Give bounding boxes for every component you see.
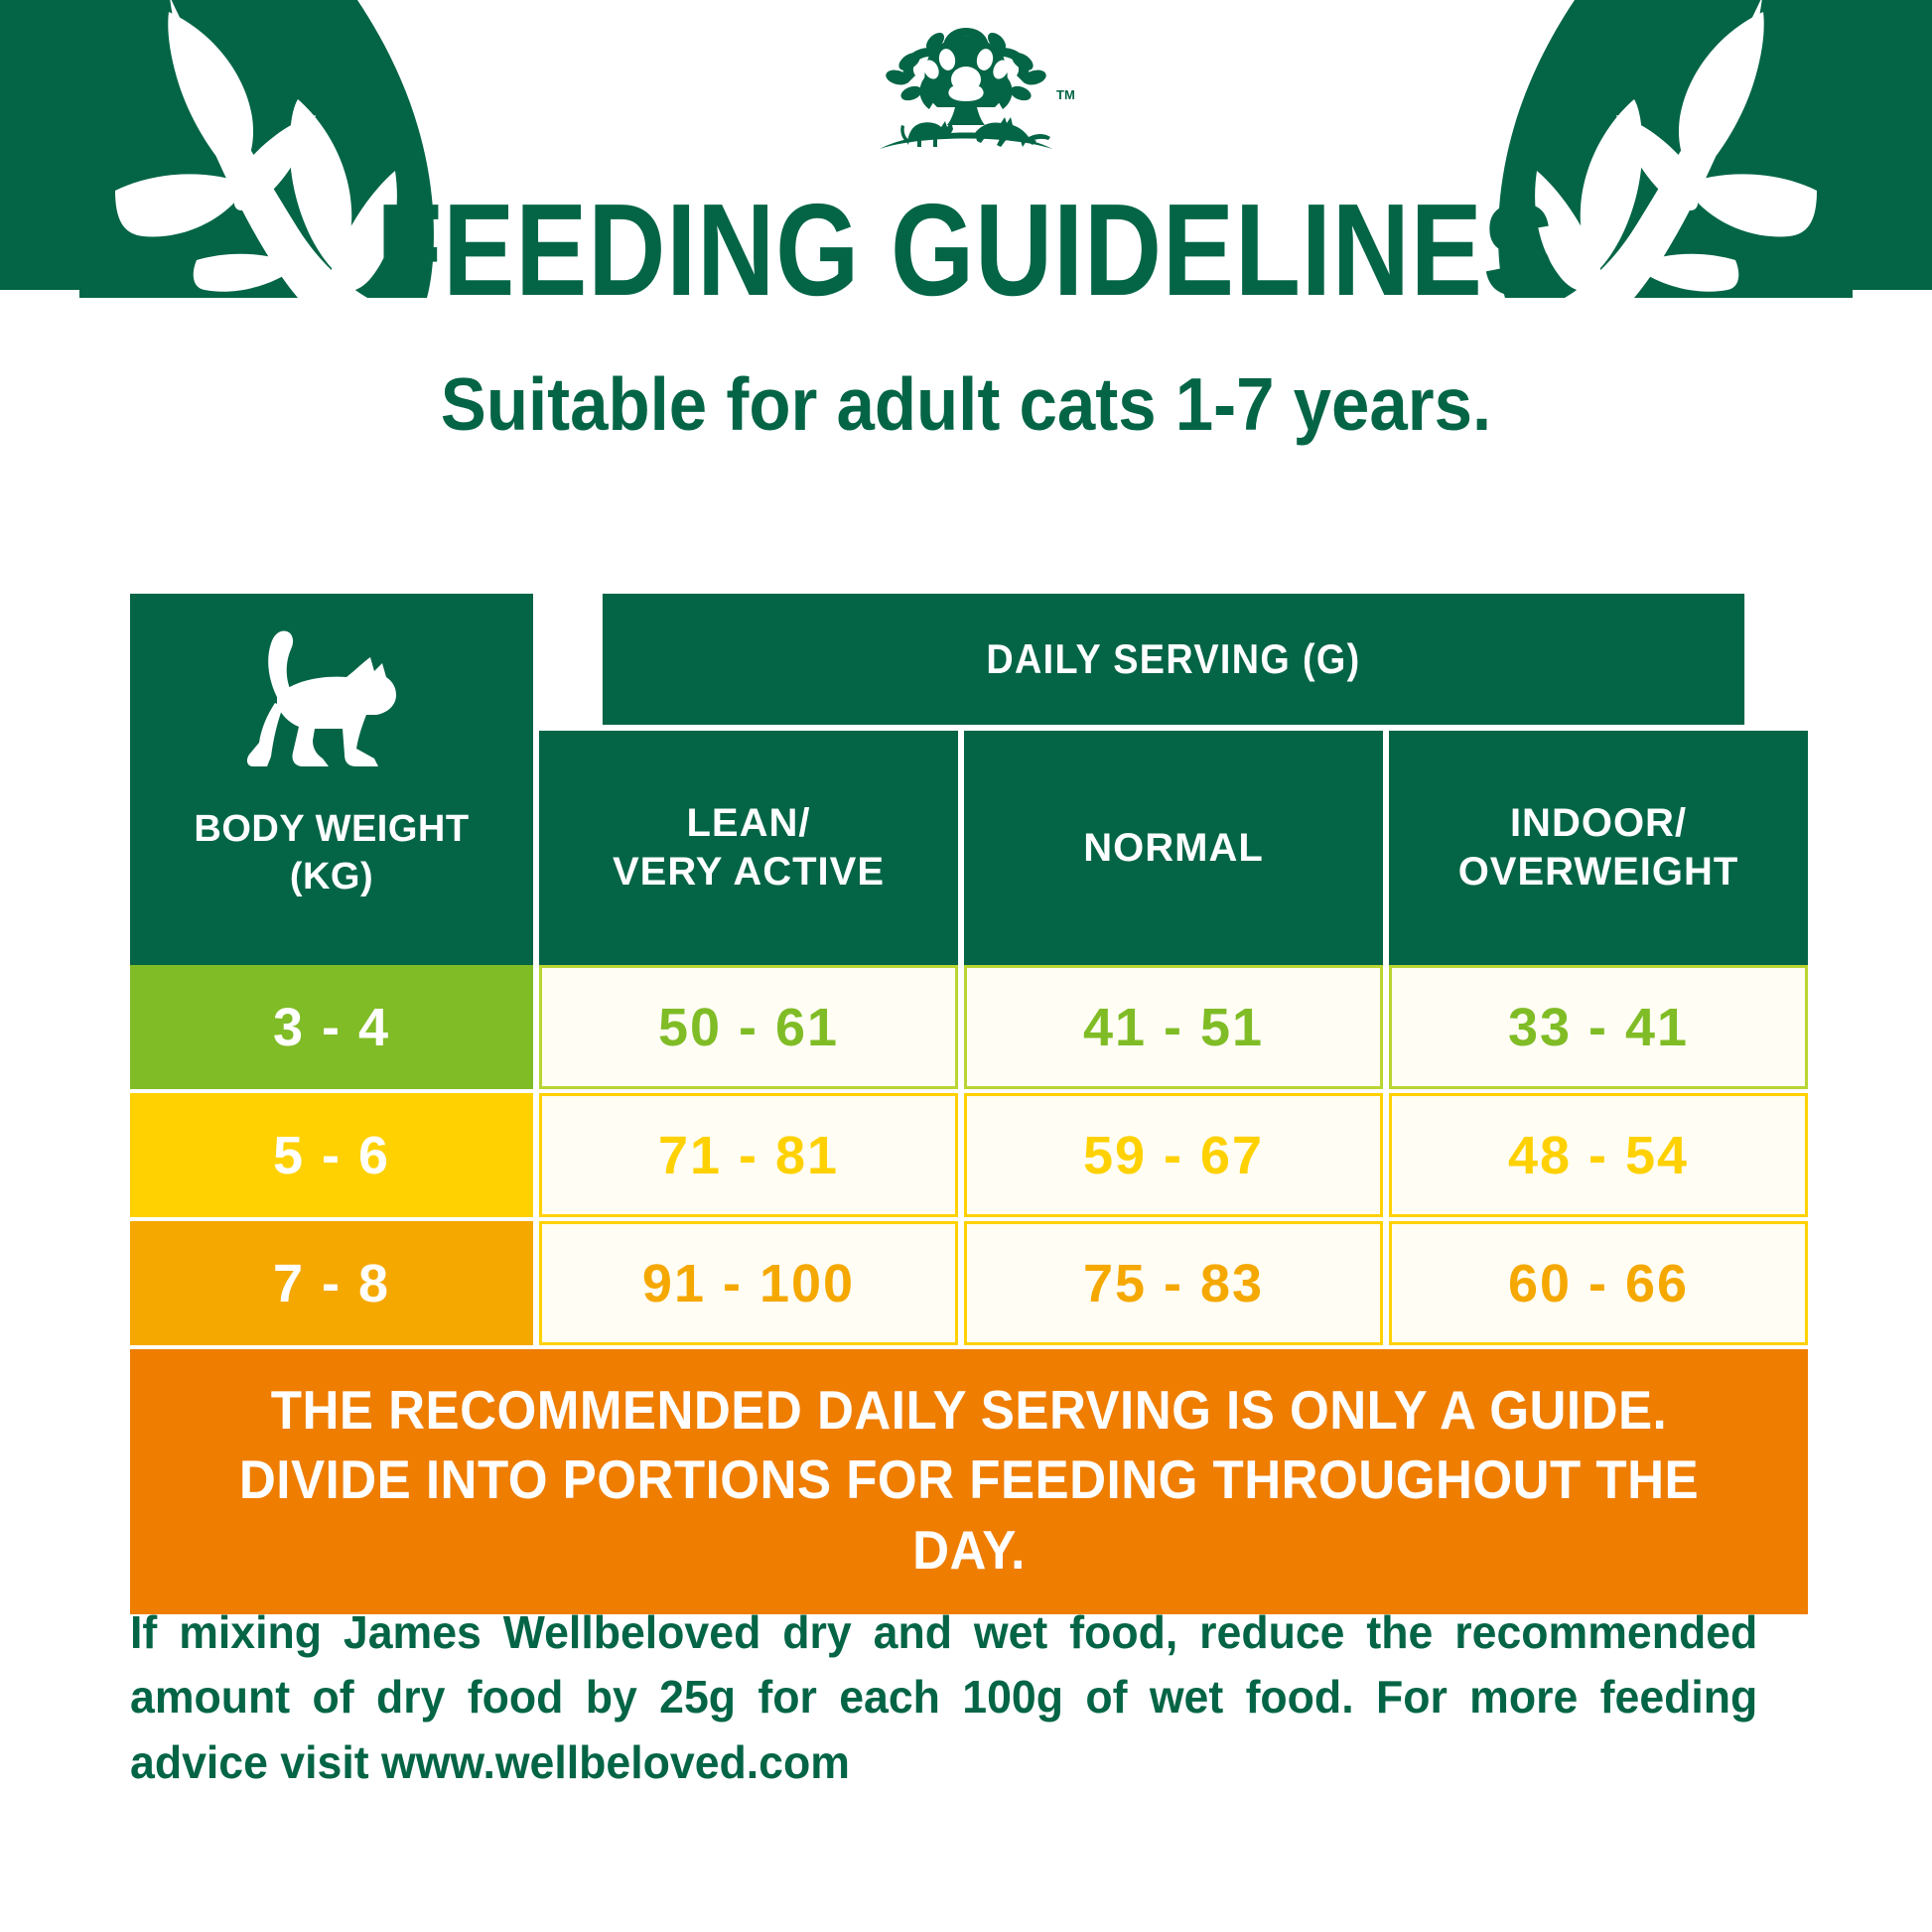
banner-line-1: THE RECOMMENDED DAILY SERVING IS ONLY A …: [207, 1375, 1731, 1445]
cell-lean-very-active: 91 - 100: [539, 1221, 958, 1345]
cell-normal: 59 - 67: [964, 1093, 1383, 1217]
daily-serving-header: DAILY SERVING (G): [603, 594, 1744, 725]
table-row: 3 - 4 50 - 61 41 - 51 33 - 41: [130, 965, 1808, 1089]
table-row: 7 - 8 91 - 100 75 - 83 60 - 66: [130, 1221, 1808, 1345]
guide-banner: THE RECOMMENDED DAILY SERVING IS ONLY A …: [130, 1349, 1808, 1614]
row-values: 91 - 100 75 - 83 60 - 66: [539, 1221, 1808, 1345]
row-weight-label: 5 - 6: [130, 1093, 533, 1217]
trademark-mark: TM: [1056, 87, 1075, 102]
table-header: BODY WEIGHT (KG) DAILY SERVING (G) LEAN/…: [130, 594, 1808, 965]
walking-cat-icon: [217, 620, 446, 798]
cell-lean-very-active: 71 - 81: [539, 1093, 958, 1217]
row-weight-label: 3 - 4: [130, 965, 533, 1089]
body-weight-header-label: BODY WEIGHT (KG): [194, 806, 469, 900]
cell-indoor-overweight: 33 - 41: [1389, 965, 1808, 1089]
column-header-normal: NORMAL: [964, 731, 1383, 965]
column-header-indoor-overweight: INDOOR/ OVERWEIGHT: [1389, 731, 1808, 965]
cell-normal: 41 - 51: [964, 965, 1383, 1089]
brand-logo: TM: [852, 22, 1080, 171]
row-values: 50 - 61 41 - 51 33 - 41: [539, 965, 1808, 1089]
banner-line-2: DIVIDE INTO PORTIONS FOR FEEDING THROUGH…: [207, 1445, 1731, 1585]
tree-paw-cat-dog-logo: TM: [852, 22, 1080, 171]
body-weight-header-cell: BODY WEIGHT (KG): [130, 594, 533, 965]
row-values: 71 - 81 59 - 67 48 - 54: [539, 1093, 1808, 1217]
serving-subheader-row: LEAN/ VERY ACTIVE NORMAL INDOOR/ OVERWEI…: [539, 731, 1808, 965]
page-title: FEEDING GUIDELINES: [174, 185, 1758, 316]
page-subtitle: Suitable for adult cats 1-7 years.: [77, 367, 1855, 442]
cell-normal: 75 - 83: [964, 1221, 1383, 1345]
footnote-text: If mixing James Wellbeloved dry and wet …: [130, 1600, 1757, 1795]
cat-silhouette-icon: [900, 121, 953, 147]
serving-header-group: DAILY SERVING (G) LEAN/ VERY ACTIVE NORM…: [539, 594, 1808, 965]
feeding-guidelines-table: BODY WEIGHT (KG) DAILY SERVING (G) LEAN/…: [130, 594, 1808, 1614]
column-header-lean-very-active: LEAN/ VERY ACTIVE: [539, 731, 958, 965]
row-weight-label: 7 - 8: [130, 1221, 533, 1345]
table-row: 5 - 6 71 - 81 59 - 67 48 - 54: [130, 1093, 1808, 1217]
cell-indoor-overweight: 48 - 54: [1389, 1093, 1808, 1217]
cell-lean-very-active: 50 - 61: [539, 965, 958, 1089]
cell-indoor-overweight: 60 - 66: [1389, 1221, 1808, 1345]
dog-silhouette-icon: [975, 117, 1050, 147]
